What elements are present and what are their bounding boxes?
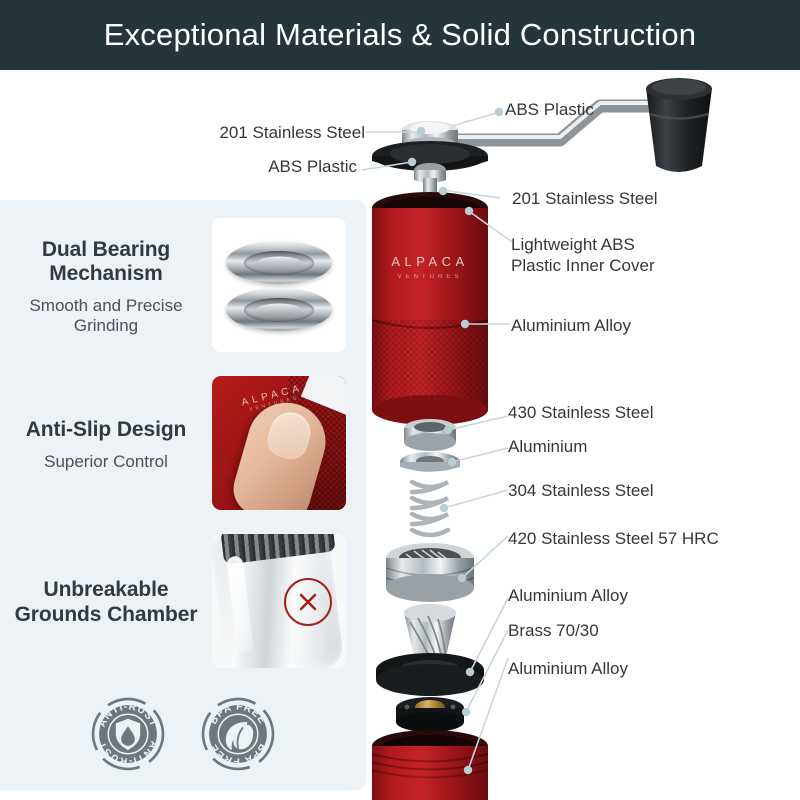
callout-430-stainless-steel: 430 Stainless Steel xyxy=(508,402,654,423)
crank-knob xyxy=(646,78,712,172)
callout-201-stainless-steel-arm: 201 Stainless Steel xyxy=(512,188,658,209)
brass-base-disc xyxy=(396,697,464,732)
callout-lightweight-abs-inner-cover: Lightweight ABS Plastic Inner Cover xyxy=(511,234,655,277)
callout-aluminium-alloy-catch-cup: Aluminium Alloy xyxy=(508,658,628,679)
callout-201-stainless-steel-nut: 201 Stainless Steel xyxy=(30,122,365,143)
product-brand-sub: VENTURES xyxy=(398,274,463,280)
callout-aluminium-alloy-body: Aluminium Alloy xyxy=(511,315,631,336)
callout-brass-70-30: Brass 70/30 xyxy=(508,620,599,641)
page-title: Exceptional Materials & Solid Constructi… xyxy=(104,17,697,53)
callout-abs-plastic-knob: ABS Plastic xyxy=(505,99,594,120)
callout-aluminium-washer: Aluminium xyxy=(508,436,587,457)
exploded-product-diagram: ALPACA VENTURES xyxy=(0,70,800,800)
callout-aluminium-alloy-gasket: Aluminium Alloy xyxy=(508,585,628,606)
callout-abs-plastic-top-cap: ABS Plastic xyxy=(30,156,357,177)
top-cap xyxy=(372,141,488,183)
body-cylinder: ALPACA VENTURES xyxy=(372,192,488,425)
burr-ring xyxy=(386,543,474,602)
product-brand-name: ALPACA xyxy=(391,254,468,269)
retaining-ring xyxy=(404,419,456,451)
header-banner: Exceptional Materials & Solid Constructi… xyxy=(0,0,800,70)
infographic-page: Exceptional Materials & Solid Constructi… xyxy=(0,0,800,800)
callout-304-stainless-steel-spring: 304 Stainless Steel xyxy=(508,480,654,501)
callout-420-stainless-steel-burr: 420 Stainless Steel 57 HRC xyxy=(508,528,719,549)
